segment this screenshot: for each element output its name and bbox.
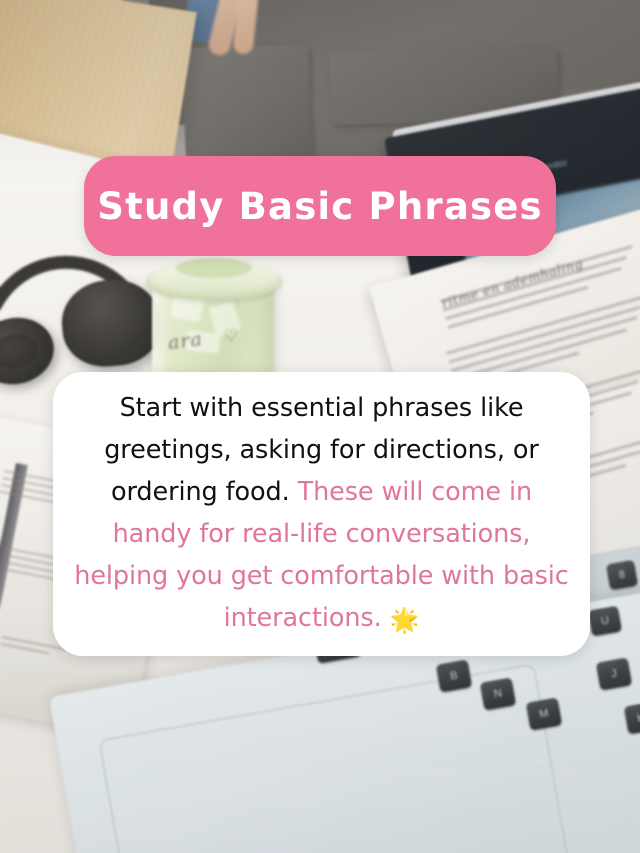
keyboard-key-n: N xyxy=(480,677,516,710)
body-text-card: Start with essential phrases like greeti… xyxy=(53,372,590,656)
video-frame: ome Ox Extra Vendor en ademhaling bindre… xyxy=(0,0,640,853)
heart-icon: ♡ xyxy=(223,325,239,346)
cup-handwritten-name: ara xyxy=(167,328,204,354)
keyboard-key-m: M xyxy=(526,697,562,730)
keyboard-key-8: 8 xyxy=(606,560,638,590)
title-banner: Study Basic Phrases xyxy=(84,156,556,256)
drink-cup-lid-dome xyxy=(176,258,252,278)
page-title: Study Basic Phrases xyxy=(97,185,542,228)
body-text: Start with essential phrases like greeti… xyxy=(71,387,572,641)
keyboard-key-b: B xyxy=(436,659,472,692)
keyboard-key-j: J xyxy=(596,657,632,690)
keyboard-key-u: U xyxy=(588,606,622,637)
sofa-cushion-left xyxy=(182,44,312,160)
sparkle-emoji-icon: 🌟 xyxy=(390,606,420,634)
